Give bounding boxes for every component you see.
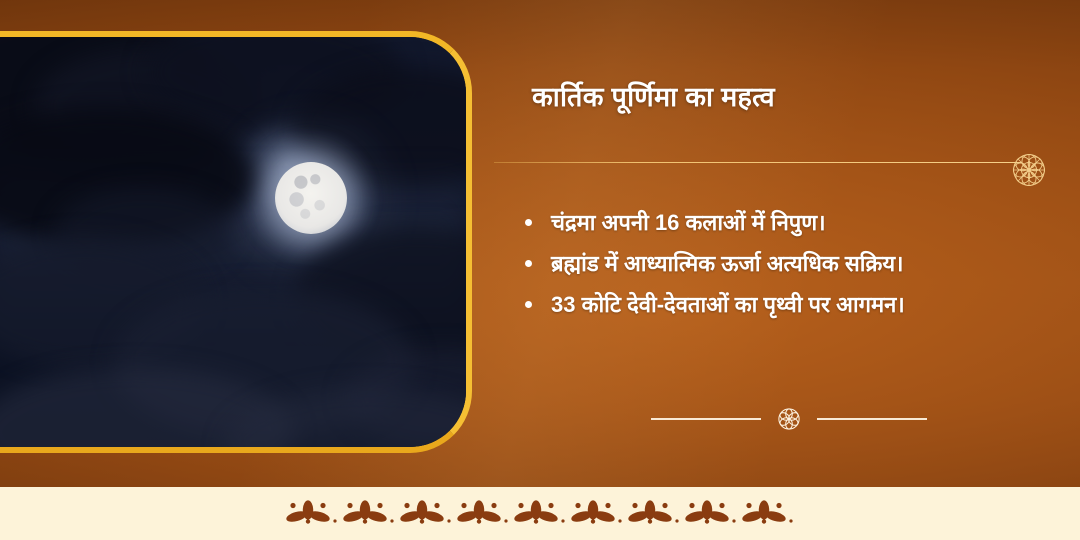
night-sky-photo	[0, 37, 466, 447]
list-item-label: 33 कोटि देवी-देवताओं का पृथ्वी पर आगमन।	[551, 292, 905, 317]
divider-rule-right	[817, 418, 927, 420]
list-item-label: चंद्रमा अपनी 16 कलाओं में निपुण।	[551, 210, 826, 235]
title-divider-rule	[494, 162, 1022, 163]
list-item: ब्रह्मांड में आध्यात्मिक ऊर्जा अत्यधिक स…	[516, 249, 1076, 278]
six-petal-flower-icon	[774, 404, 804, 434]
content-column: कार्तिक पूर्णिमा का महत्व चंद्रमा अपनी 1…	[494, 0, 1080, 487]
ornament-strip	[0, 487, 1080, 540]
leaf-trefoil-motif-icon	[280, 497, 800, 531]
full-moon-icon	[275, 162, 347, 234]
moon-photo-card	[0, 31, 472, 453]
bottom-ornament-band	[0, 487, 1080, 540]
bullet-dot-icon	[525, 260, 532, 267]
list-item-label: ब्रह्मांड में आध्यात्मिक ऊर्जा अत्यधिक स…	[551, 251, 903, 276]
bullet-dot-icon	[525, 219, 532, 226]
mandala-rosette-icon	[1005, 146, 1053, 194]
kartik-purnima-banner: कार्तिक पूर्णिमा का महत्व चंद्रमा अपनी 1…	[0, 0, 1080, 540]
key-points-list: चंद्रमा अपनी 16 कलाओं में निपुण। ब्रह्मा…	[516, 208, 1076, 331]
list-item: 33 कोटि देवी-देवताओं का पृथ्वी पर आगमन।	[516, 290, 1076, 319]
divider-rule-left	[651, 418, 761, 420]
page-title: कार्तिक पूर्णिमा का महत्व	[532, 77, 775, 114]
bottom-divider	[639, 402, 939, 436]
bullet-dot-icon	[525, 301, 532, 308]
list-item: चंद्रमा अपनी 16 कलाओं में निपुण।	[516, 208, 1076, 237]
